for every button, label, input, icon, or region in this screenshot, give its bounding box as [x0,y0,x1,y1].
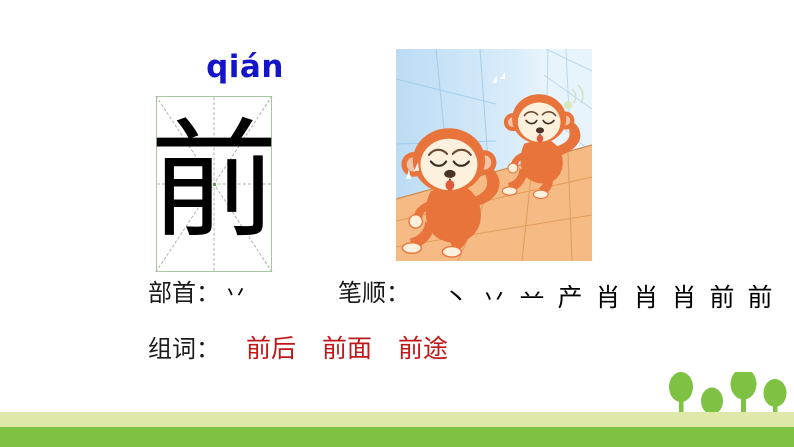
word-item: 前后 [246,334,296,363]
stroke-step: 丷 [475,285,513,310]
stroke-order-sequence: 丶 丷 䒑 产 肖 肖 肖 前 前 [437,276,783,310]
words-label: 组词： [148,335,220,363]
pale-green-band [0,412,794,427]
stroke-order-label: 笔顺： [338,279,410,307]
radical-glyph: 丷 [224,281,247,307]
word-item: 前面 [322,334,372,363]
word-item: 前途 [398,334,448,363]
stroke-step: 产 [551,285,589,310]
green-band [0,427,794,447]
stroke-step: 丶 [437,285,475,310]
words-row: 组词：前后前面前途 [148,336,448,361]
stroke-step: 前 [703,285,741,310]
stroke-order-label-wrap: 笔顺： [338,281,410,305]
stroke-step: 䒑 [513,285,551,310]
radical-row: 部首：丷 [148,281,247,306]
character-grid: 前 [156,96,272,272]
stroke-step: 肖 [627,285,665,310]
radical-label: 部首： [148,279,220,307]
pinyin-text: qián [155,52,335,83]
stroke-step: 前 [741,285,779,310]
character-glyph: 前 [157,97,271,271]
monkey-illustration [396,49,592,261]
stroke-step: 肖 [665,285,703,310]
stroke-step: 肖 [589,285,627,310]
